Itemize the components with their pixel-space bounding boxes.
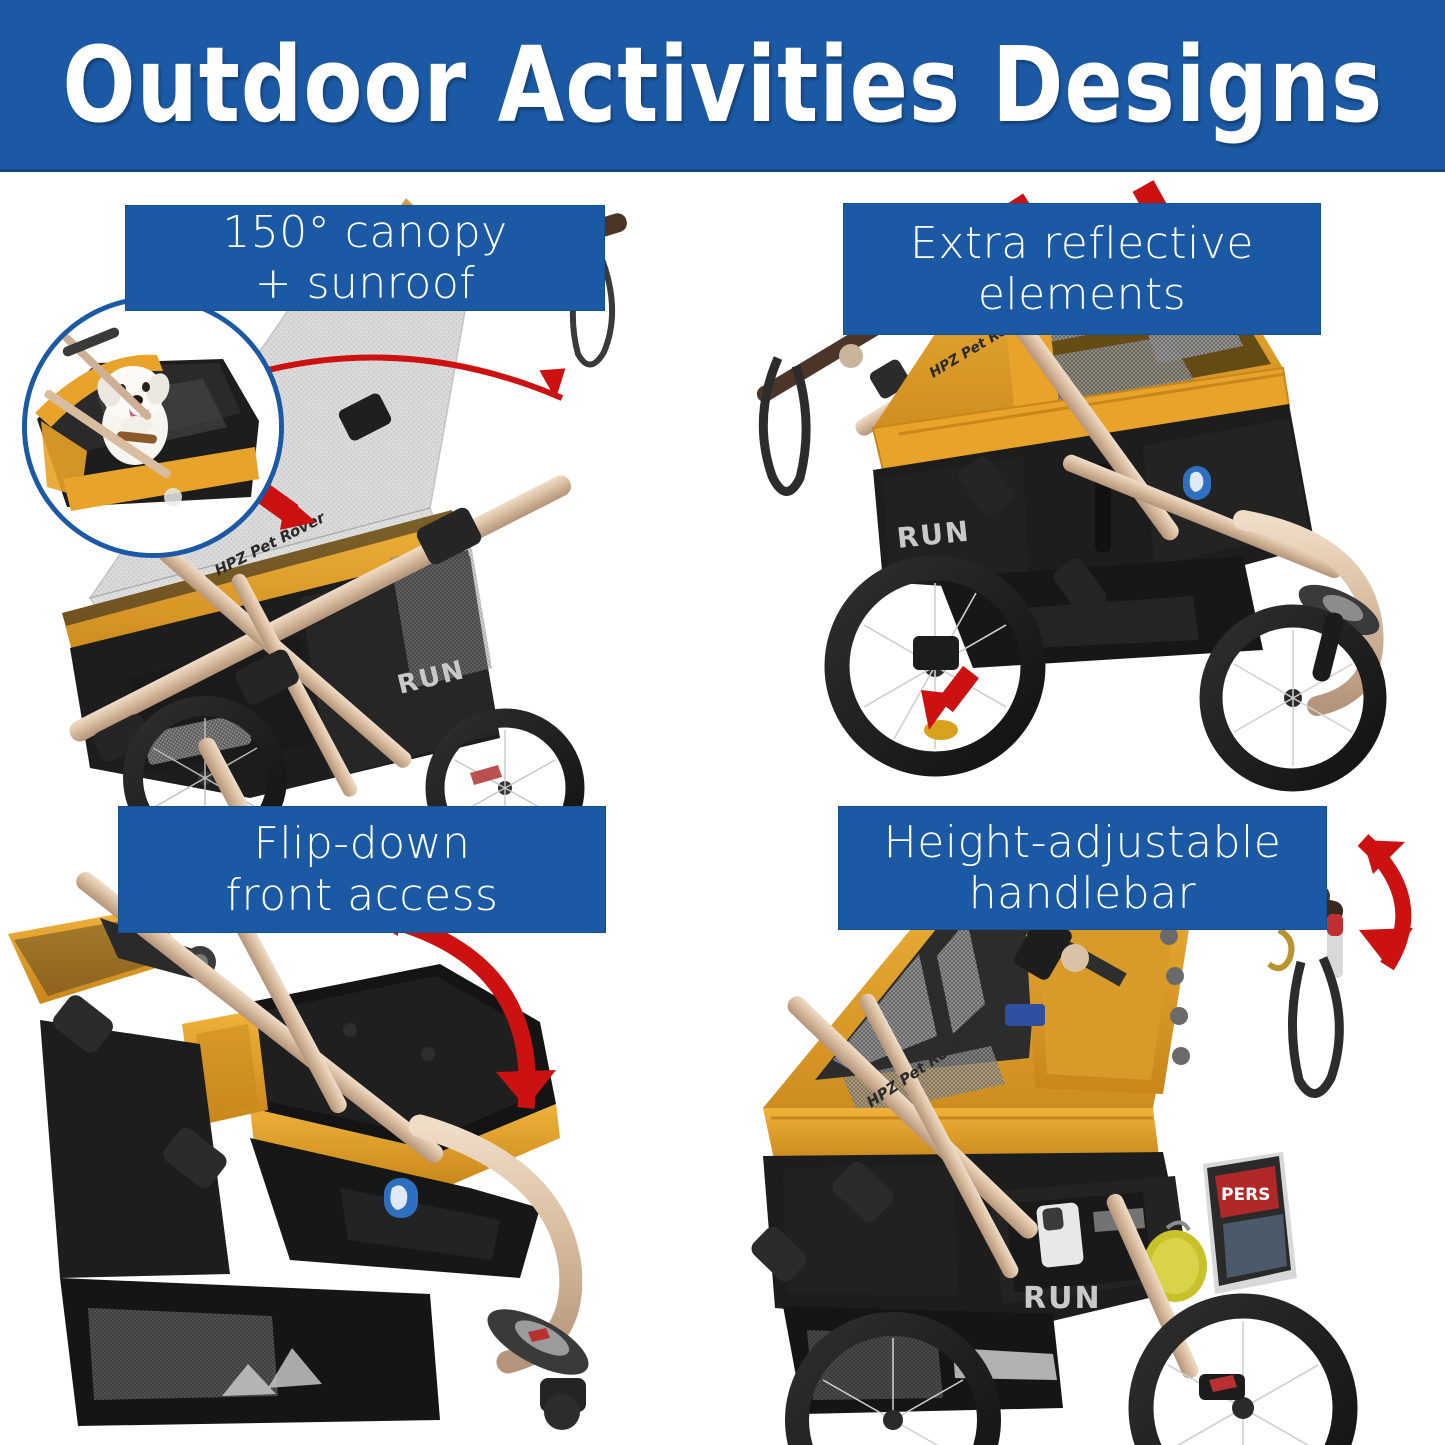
label-canopy-text: 150° canopy + sunroof bbox=[222, 207, 507, 309]
page-title: Outdoor Activities Designs bbox=[62, 33, 1383, 137]
header-banner: Outdoor Activities Designs bbox=[0, 0, 1445, 172]
dog-in-stroller-inset bbox=[22, 296, 284, 558]
handlebar-height-arrow bbox=[1359, 840, 1413, 966]
brand-tag bbox=[1005, 1004, 1045, 1026]
dog-inset-illustration bbox=[27, 301, 279, 553]
label-canopy-sunroof: 150° canopy + sunroof bbox=[125, 205, 605, 311]
basket-text-run: RUN bbox=[1023, 1281, 1102, 1316]
label-flip-text: Flip-down front access bbox=[226, 818, 499, 920]
svg-text:PERS: PERS bbox=[1221, 1185, 1270, 1205]
magazine: PERS bbox=[1203, 1152, 1297, 1294]
label-flip-down-access: Flip-down front access bbox=[118, 806, 606, 933]
label-reflective-elements: Extra reflective elements bbox=[843, 203, 1321, 335]
label-handle-text: Height-adjustable handlebar bbox=[884, 817, 1282, 919]
label-height-adjustable-handlebar: Height-adjustable handlebar bbox=[838, 806, 1327, 930]
label-reflect-text: Extra reflective elements bbox=[910, 218, 1254, 320]
under-basket bbox=[60, 1278, 440, 1426]
wheel-front bbox=[1141, 1306, 1345, 1445]
